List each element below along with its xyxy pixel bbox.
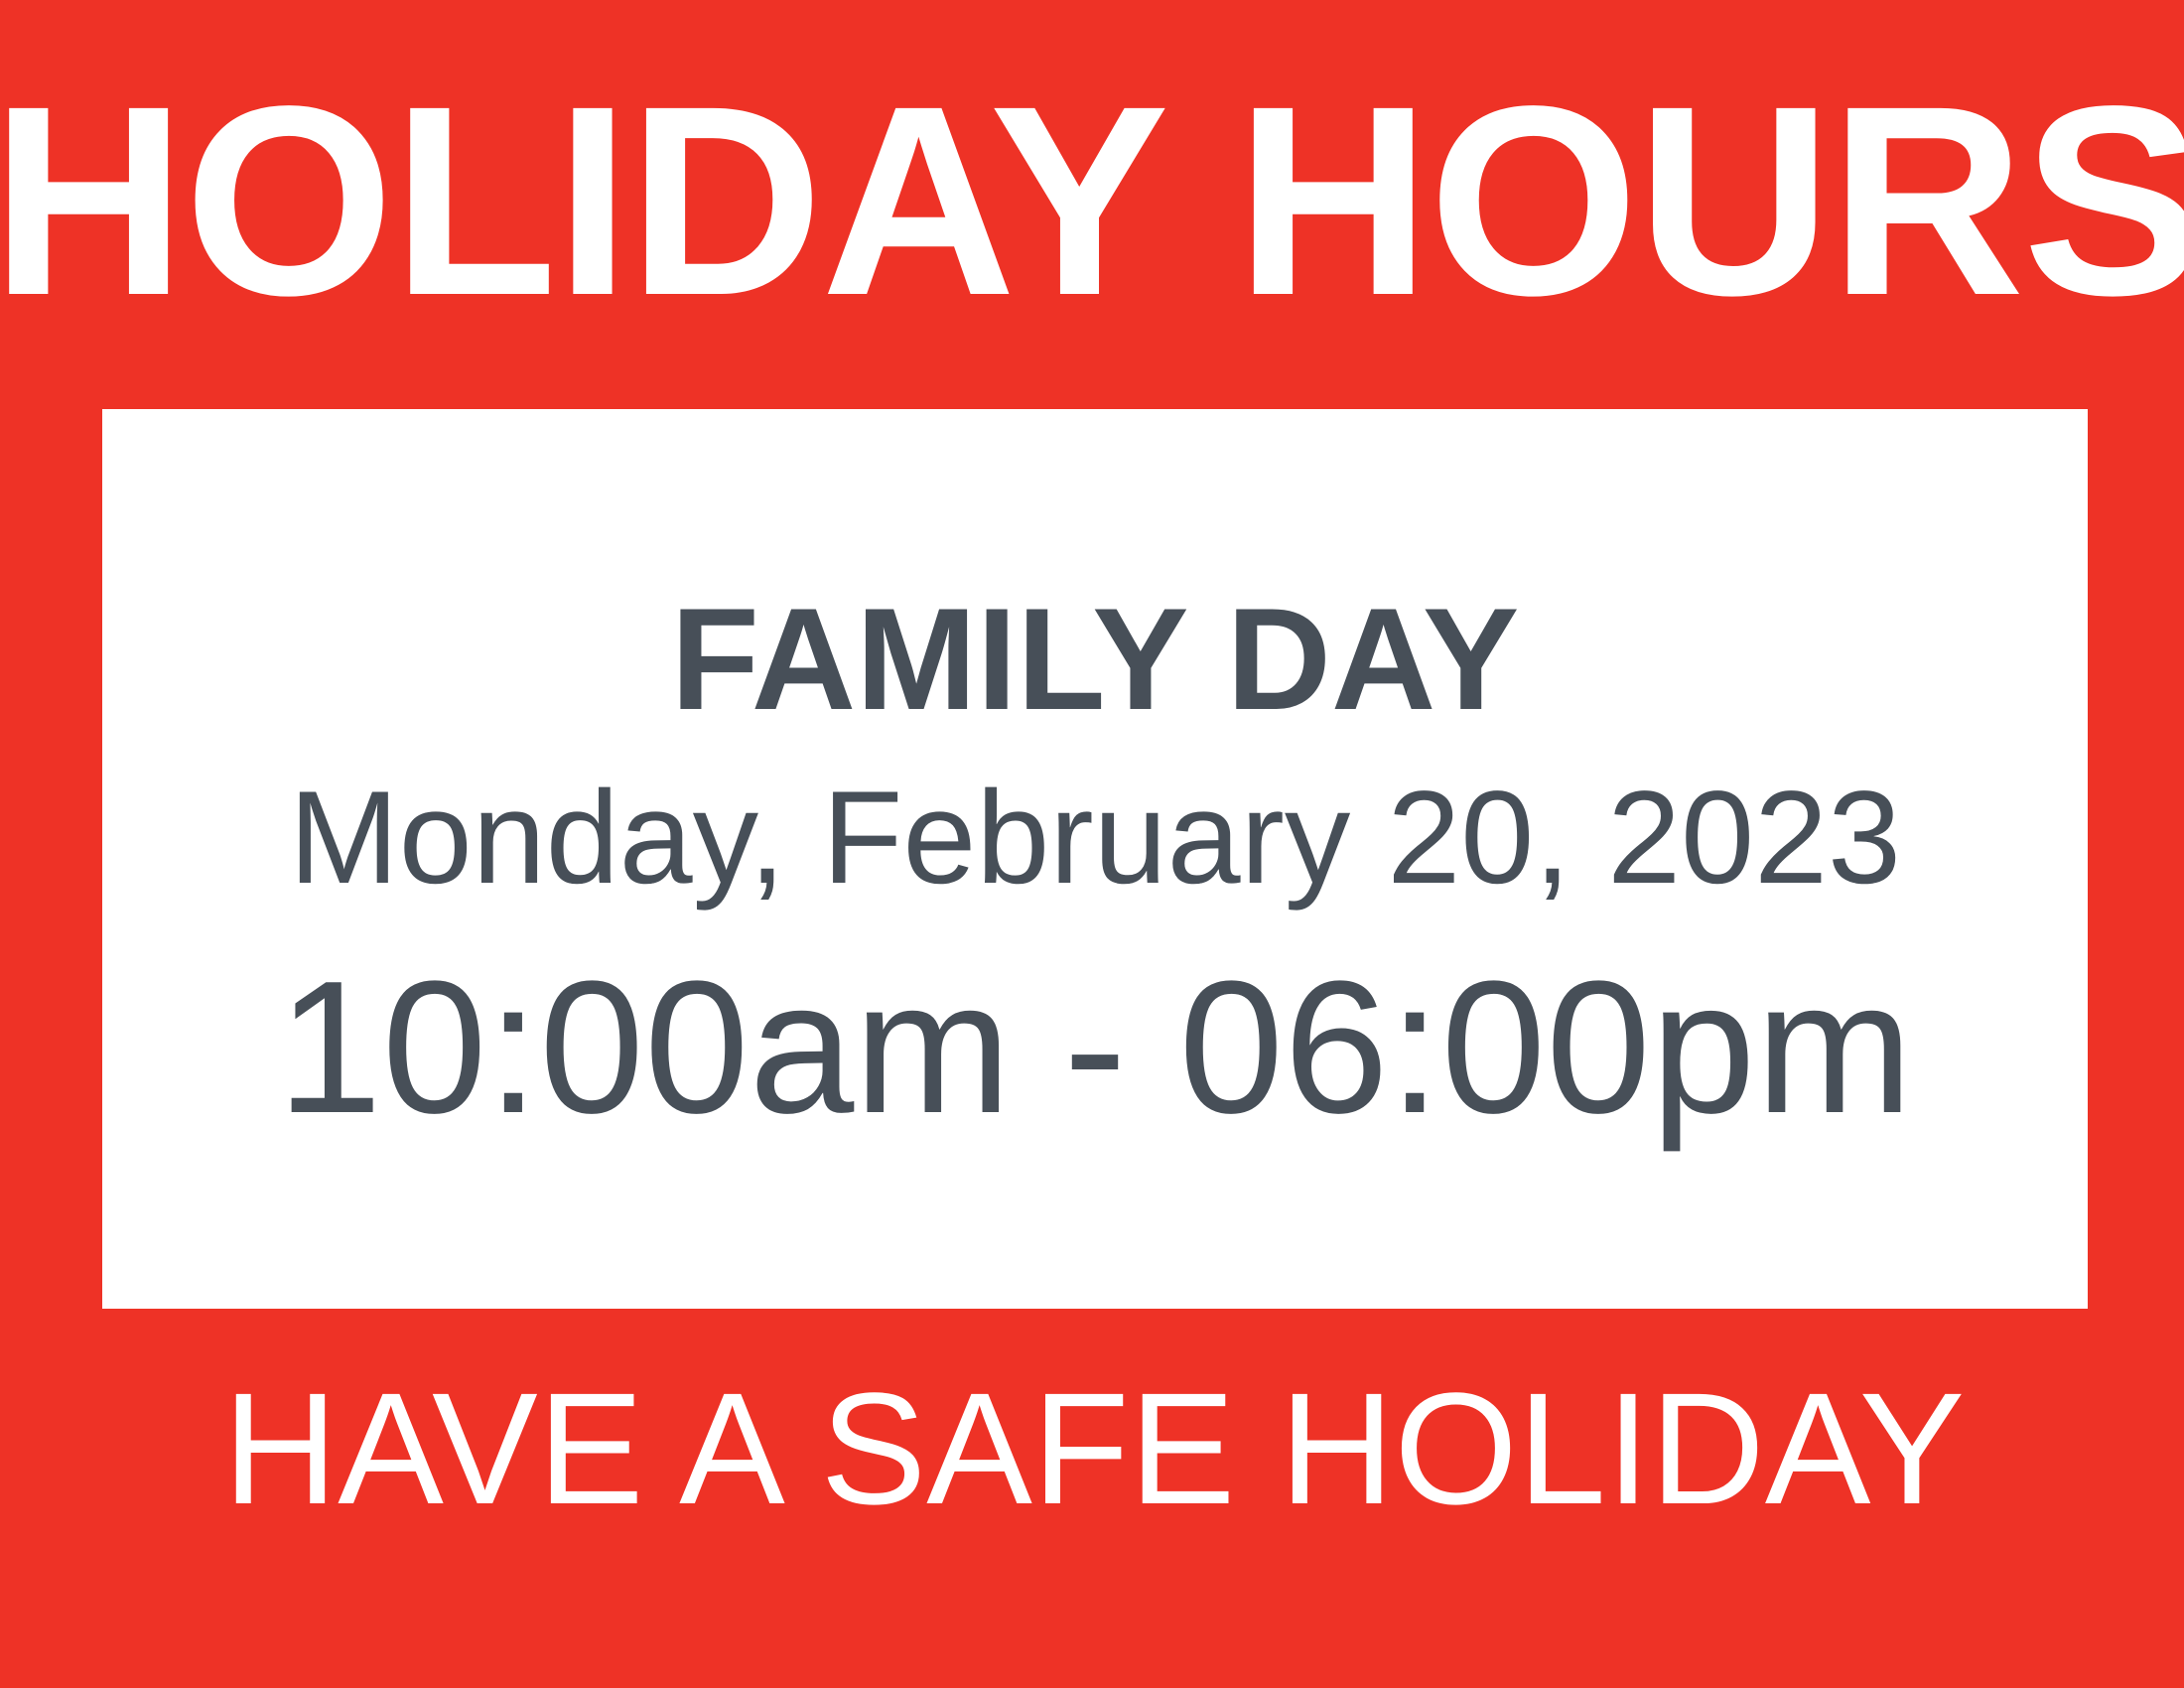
occasion-date: Monday, February 20, 2023 — [289, 753, 1901, 924]
info-card-content: FAMILY DAY Monday, February 20, 2023 10:… — [277, 583, 1913, 1159]
closing-message-band: HAVE A SAFE HOLIDAY — [0, 1309, 2184, 1688]
occasion-hours: 10:00am - 06:00pm — [277, 936, 1913, 1159]
sign-headline: HOLIDAY HOURS — [0, 66, 2184, 336]
holiday-hours-sign: HOLIDAY HOURS FAMILY DAY Monday, Februar… — [0, 0, 2184, 1688]
headline-band: HOLIDAY HOURS — [0, 0, 2184, 409]
occasion-title: FAMILY DAY — [671, 583, 1520, 737]
closing-message: HAVE A SAFE HOLIDAY — [223, 1369, 1966, 1528]
info-card: FAMILY DAY Monday, February 20, 2023 10:… — [102, 409, 2088, 1309]
